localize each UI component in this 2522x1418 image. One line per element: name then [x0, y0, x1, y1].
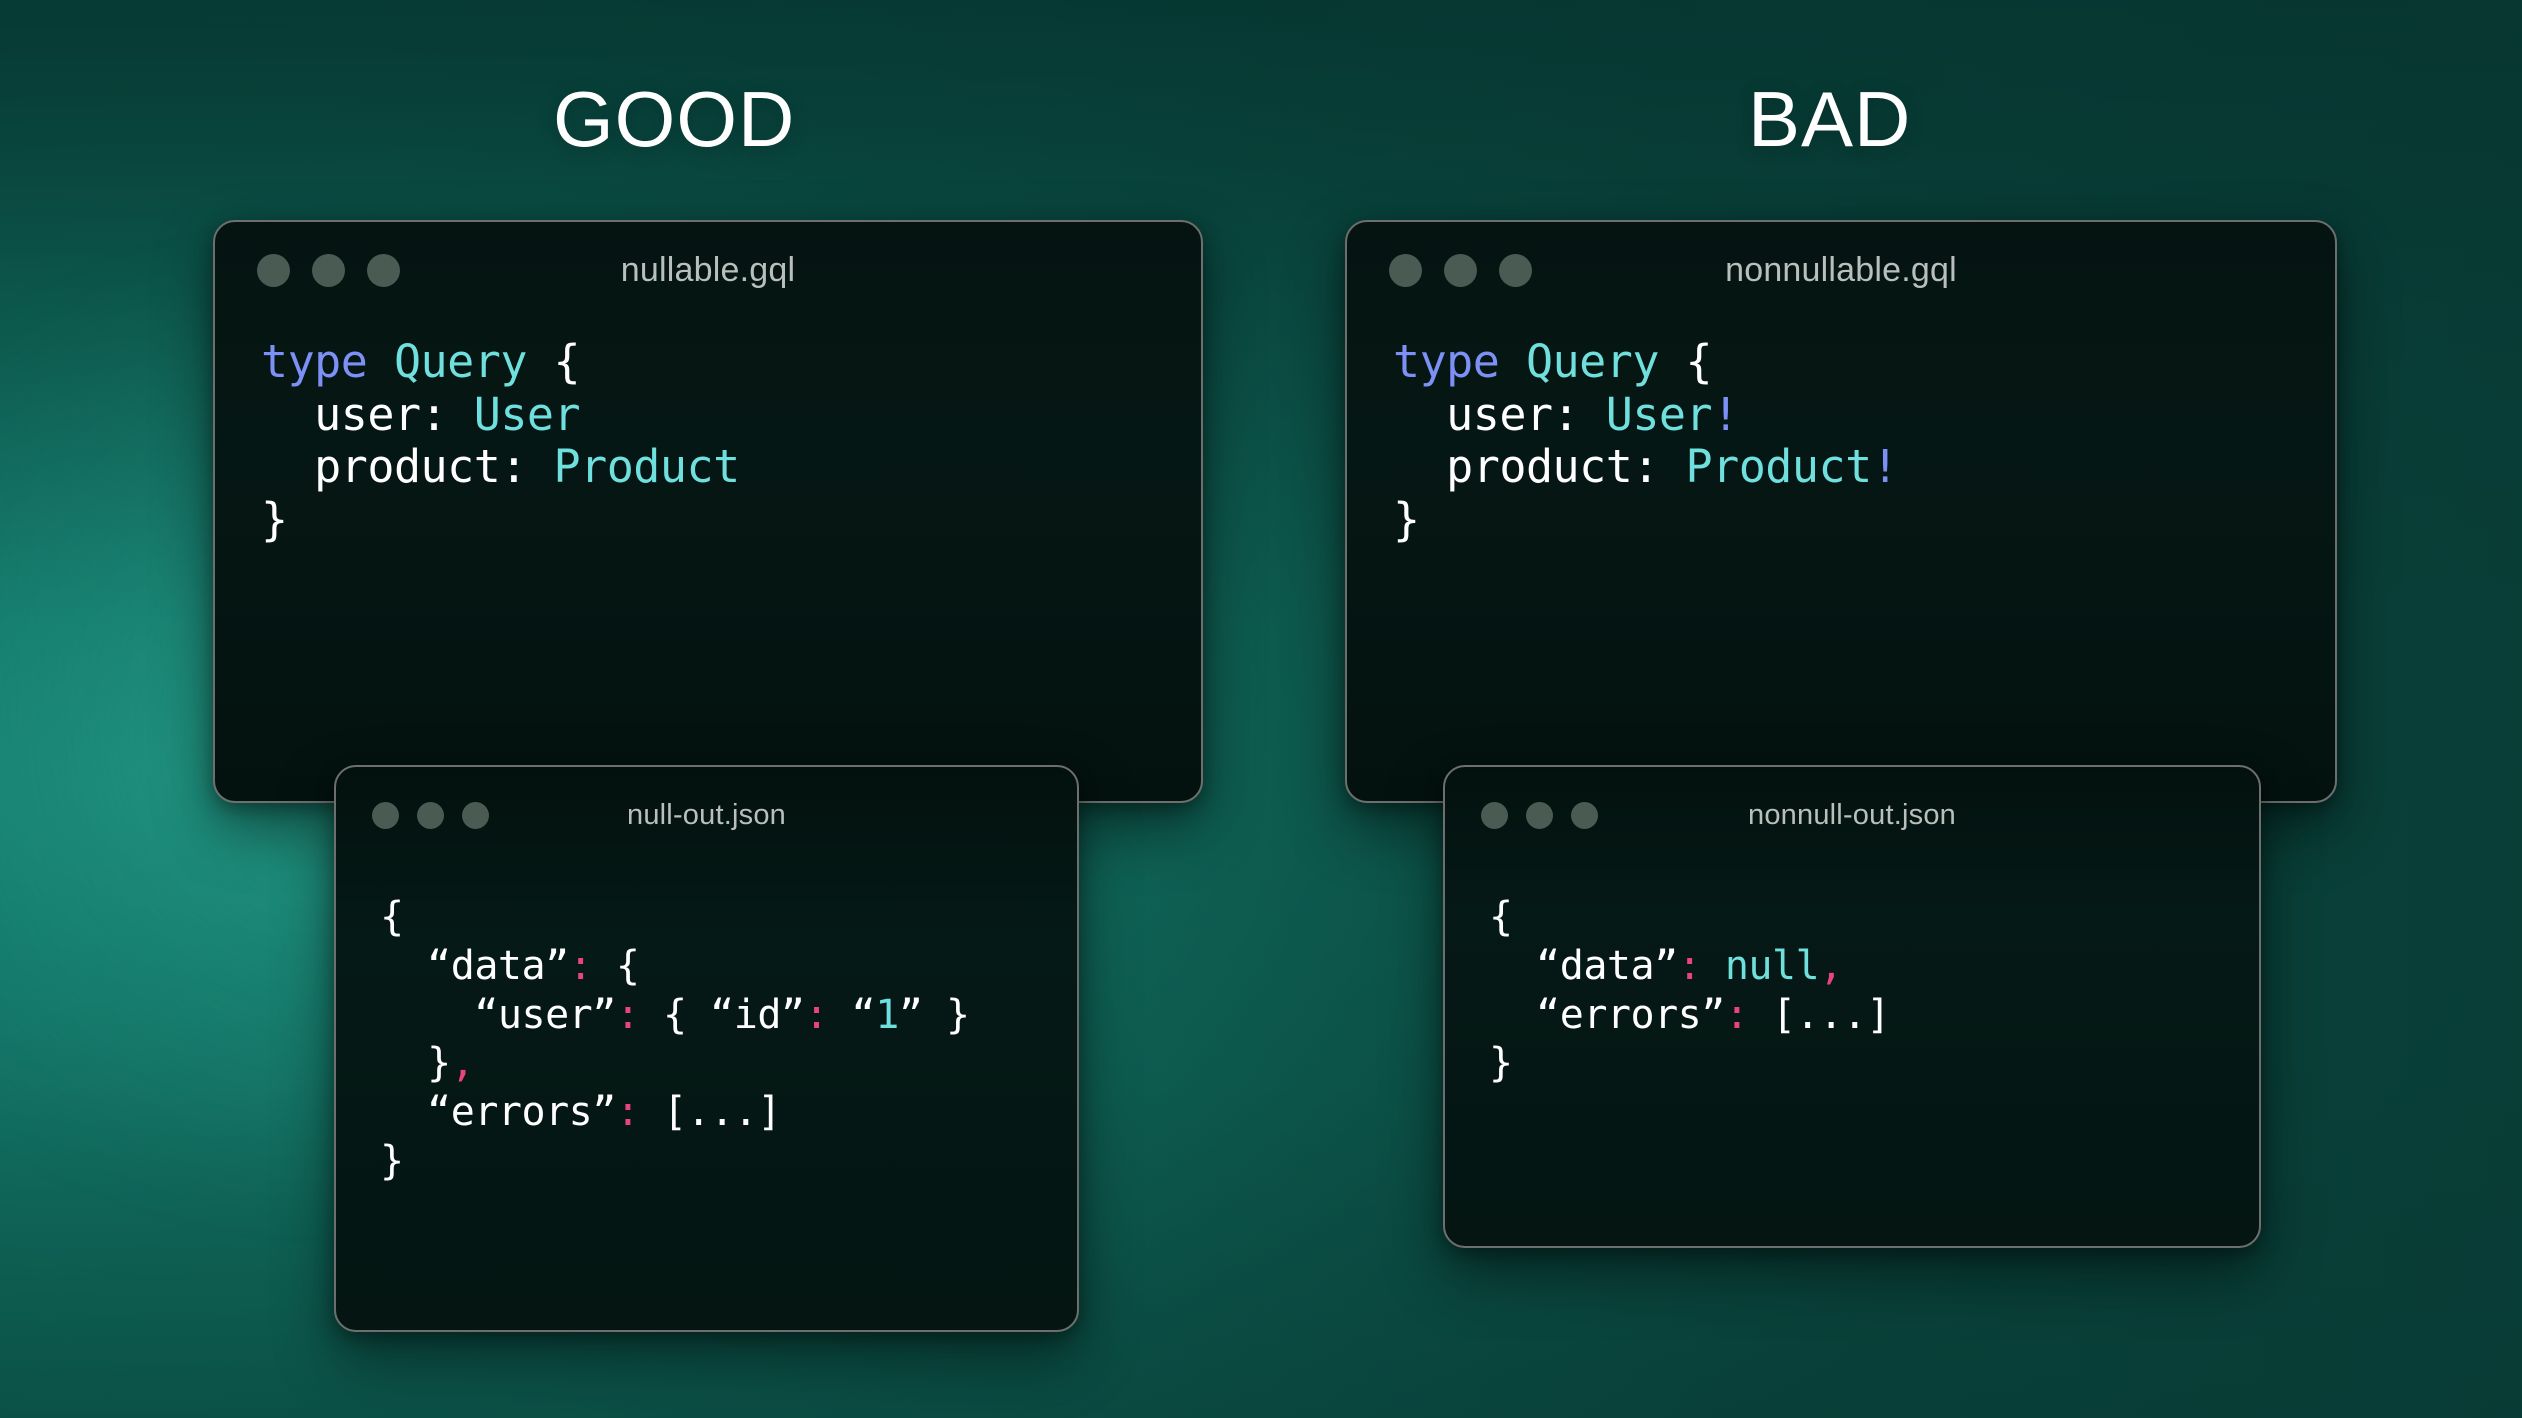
code-token: [...] [639, 1089, 781, 1135]
close-dot-icon[interactable] [1389, 254, 1422, 287]
code-line: “data”: null, [1489, 942, 2259, 991]
code-block-output-good: { “data”: { “user”: { “id”: “1” } }, “er… [336, 863, 1077, 1186]
code-token: : [1725, 992, 1749, 1038]
code-token: } [261, 493, 288, 546]
code-token: “data” [1489, 943, 1678, 989]
code-token: { [527, 335, 580, 388]
minimize-dot-icon[interactable] [1444, 254, 1477, 287]
code-token: null [1725, 943, 1819, 989]
code-block-output-bad: { “data”: null, “errors”: [...]} [1445, 863, 2259, 1088]
schema-window-bad[interactable]: nonnullable.gql type Query { user: User!… [1345, 220, 2337, 803]
code-token: Query [394, 335, 527, 388]
code-block-schema-good: type Query { user: User product: Product… [215, 318, 1201, 547]
output-window-bad[interactable]: nonnull-out.json { “data”: null, “errors… [1443, 765, 2261, 1248]
close-dot-icon[interactable] [1481, 802, 1508, 829]
code-line: } [380, 1137, 1077, 1186]
code-token: type [261, 335, 367, 388]
code-token: “ [828, 992, 875, 1038]
code-token: product: [1393, 440, 1686, 493]
maximize-dot-icon[interactable] [367, 254, 400, 287]
code-token: ” } [899, 992, 970, 1038]
code-line: user: User! [1393, 389, 2335, 442]
code-token: type [1393, 335, 1499, 388]
code-token: “errors” [380, 1089, 616, 1135]
code-token: : [616, 992, 640, 1038]
code-token [1499, 335, 1526, 388]
code-token: User [1606, 388, 1712, 441]
code-token: } [380, 1040, 451, 1086]
code-token: “data” [380, 943, 569, 989]
code-line: } [1393, 494, 2335, 547]
close-dot-icon[interactable] [257, 254, 290, 287]
code-line: } [1489, 1039, 2259, 1088]
code-token: { “id” [639, 992, 804, 1038]
code-token: : [569, 943, 593, 989]
code-line: }, [380, 1039, 1077, 1088]
code-line: “errors”: [...] [380, 1088, 1077, 1137]
code-block-schema-bad: type Query { user: User! product: Produc… [1347, 318, 2335, 547]
code-token: ! [1712, 388, 1739, 441]
code-token: { [1659, 335, 1712, 388]
code-line: } [261, 494, 1201, 547]
code-token: } [380, 1138, 404, 1184]
code-token: user: [1393, 388, 1606, 441]
maximize-dot-icon[interactable] [1571, 802, 1598, 829]
window-titlebar: nonnull-out.json [1445, 767, 2259, 863]
window-titlebar: nullable.gql [215, 222, 1201, 318]
minimize-dot-icon[interactable] [1526, 802, 1553, 829]
minimize-dot-icon[interactable] [312, 254, 345, 287]
code-line: “user”: { “id”: “1” } [380, 991, 1077, 1040]
code-token: User [474, 388, 580, 441]
code-token [367, 335, 394, 388]
code-line: “errors”: [...] [1489, 991, 2259, 1040]
code-token: user: [261, 388, 474, 441]
code-token: Product [1686, 440, 1872, 493]
code-token: : [805, 992, 829, 1038]
code-token: } [1393, 493, 1420, 546]
code-token: , [451, 1040, 475, 1086]
code-line: user: User [261, 389, 1201, 442]
code-token: product: [261, 440, 554, 493]
code-token: { [380, 894, 404, 940]
code-token: , [1819, 943, 1843, 989]
column-title-bad: BAD [1748, 80, 1911, 158]
code-line: type Query { [261, 336, 1201, 389]
window-titlebar: null-out.json [336, 767, 1077, 863]
code-line: { [1489, 893, 2259, 942]
schema-window-good[interactable]: nullable.gql type Query { user: User pro… [213, 220, 1203, 803]
code-token: “user” [380, 992, 616, 1038]
code-token: } [1489, 1040, 1513, 1086]
window-controls[interactable] [372, 802, 489, 829]
maximize-dot-icon[interactable] [462, 802, 489, 829]
comparison-stage: GOOD nullable.gql type Query { user: Use… [0, 0, 2522, 1418]
code-line: type Query { [1393, 336, 2335, 389]
code-line: product: Product! [1393, 441, 2335, 494]
code-line: product: Product [261, 441, 1201, 494]
maximize-dot-icon[interactable] [1499, 254, 1532, 287]
column-title-good: GOOD [553, 80, 795, 158]
window-controls[interactable] [1389, 254, 1532, 287]
close-dot-icon[interactable] [372, 802, 399, 829]
output-window-good[interactable]: null-out.json { “data”: { “user”: { “id”… [334, 765, 1079, 1332]
minimize-dot-icon[interactable] [417, 802, 444, 829]
code-token [1701, 943, 1725, 989]
code-token: : [616, 1089, 640, 1135]
code-token: Query [1526, 335, 1659, 388]
code-token: ! [1872, 440, 1899, 493]
code-token: “errors” [1489, 992, 1725, 1038]
window-controls[interactable] [1481, 802, 1598, 829]
code-token: { [592, 943, 639, 989]
code-line: “data”: { [380, 942, 1077, 991]
code-token: { [1489, 894, 1513, 940]
window-controls[interactable] [257, 254, 400, 287]
window-titlebar: nonnullable.gql [1347, 222, 2335, 318]
code-line: { [380, 893, 1077, 942]
code-token: [...] [1748, 992, 1890, 1038]
code-token: : [1678, 943, 1702, 989]
code-token: Product [554, 440, 740, 493]
code-token: 1 [875, 992, 899, 1038]
